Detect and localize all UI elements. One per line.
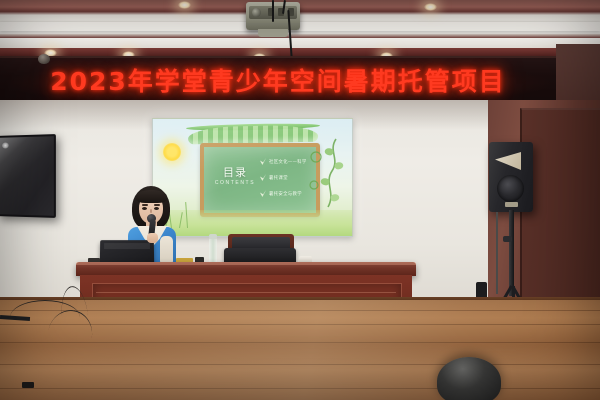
pa-speaker — [489, 142, 533, 212]
podium-top-highlight — [76, 262, 416, 265]
wall-display[interactable] — [0, 134, 56, 218]
bottle-cap — [209, 234, 217, 239]
eyebrow — [154, 204, 160, 206]
speaker-woofer-icon — [497, 175, 524, 202]
projector-mount — [258, 29, 288, 37]
cable-plug — [22, 382, 34, 388]
display-glare — [0, 136, 54, 216]
ceiling — [0, 0, 600, 58]
wooden-podium-top — [76, 262, 416, 276]
projector-cable — [272, 0, 274, 22]
laptop-screen-sheen — [104, 243, 150, 249]
water-bottle[interactable] — [209, 238, 217, 264]
speaker-cable — [496, 212, 498, 294]
eyebrow — [142, 204, 148, 206]
dome-camera-icon — [38, 54, 50, 64]
podium-groove — [96, 292, 396, 293]
eye — [142, 207, 147, 210]
presenter-fringe — [136, 190, 167, 203]
ceiling-beam-line — [0, 31, 600, 34]
speaker-horn-icon — [495, 152, 521, 170]
audience-head — [437, 357, 501, 400]
led-banner-text: 2023年学堂青少年空间暑期托管项目 — [0, 62, 556, 98]
speaker-stand-knob[interactable] — [503, 236, 512, 242]
downlight-icon — [178, 1, 191, 9]
nose — [150, 209, 152, 213]
classroom-photo-scene: 2023年学堂青少年空间暑期托管项目 目录 CONTENTS 社区文化——科学 — [0, 0, 600, 400]
downlight-icon — [424, 3, 437, 11]
ceiling-cove-upper — [0, 22, 600, 31]
presenter-hand — [147, 233, 158, 243]
speaker-logo — [505, 202, 518, 207]
projector-lens-icon — [252, 8, 261, 17]
speaker-stand-pole[interactable] — [509, 210, 514, 296]
eye — [154, 207, 159, 210]
floor-reflection — [0, 300, 600, 400]
